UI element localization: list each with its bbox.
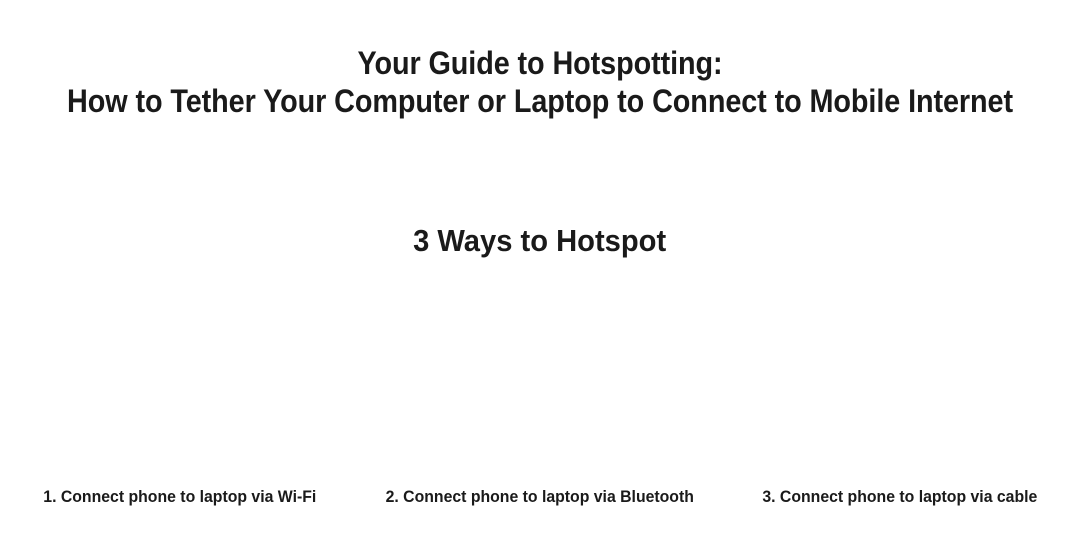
method-item-wifi: 1. Connect phone to laptop via Wi-Fi bbox=[0, 486, 360, 508]
infographic-canvas: Your Guide to Hotspotting: How to Tether… bbox=[0, 0, 1080, 552]
illustration-cable bbox=[720, 285, 1080, 475]
method-caption-bluetooth: 2. Connect phone to laptop via Bluetooth bbox=[386, 486, 694, 508]
title-line-primary: Your Guide to Hotspotting: bbox=[54, 44, 1026, 82]
illustration-row bbox=[0, 285, 1080, 475]
method-caption-cable: 3. Connect phone to laptop via cable bbox=[763, 486, 1038, 508]
page-title: Your Guide to Hotspotting: How to Tether… bbox=[0, 44, 1080, 120]
illustration-wifi bbox=[0, 285, 360, 475]
section-heading: 3 Ways to Hotspot bbox=[413, 222, 666, 260]
caption-row: 1. Connect phone to laptop via Wi-Fi 2. … bbox=[0, 486, 1080, 516]
title-line-secondary: How to Tether Your Computer or Laptop to… bbox=[54, 82, 1026, 120]
method-item-bluetooth: 2. Connect phone to laptop via Bluetooth bbox=[360, 486, 720, 508]
section-heading-container: 3 Ways to Hotspot bbox=[0, 222, 1080, 260]
method-item-cable: 3. Connect phone to laptop via cable bbox=[720, 486, 1080, 508]
method-caption-wifi: 1. Connect phone to laptop via Wi-Fi bbox=[43, 486, 316, 508]
illustration-bluetooth bbox=[360, 285, 720, 475]
